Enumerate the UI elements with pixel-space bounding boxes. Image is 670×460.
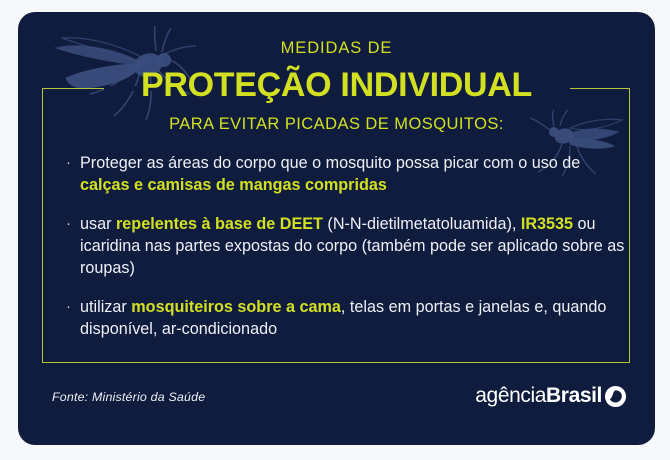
subtitle-text: PARA EVITAR PICADAS DE MOSQUITOS:: [18, 116, 655, 133]
list-item: · usar repelentes à base de DEET (N-N-di…: [66, 213, 626, 279]
source-value: Ministério da Saúde: [92, 390, 205, 404]
agencia-brasil-logo: agênciaBrasil: [475, 384, 627, 408]
infographic-stage: MEDIDAS DE PROTEÇÃO INDIVIDUAL PARA EVIT…: [0, 0, 670, 460]
logo-text-brasil: Brasil: [546, 384, 602, 408]
plain-phrase: utilizar: [80, 298, 131, 316]
plain-phrase: Proteger as áreas do corpo que o mosquit…: [80, 154, 580, 172]
bullet-dot-icon: ·: [66, 213, 80, 235]
source-label: Fonte:: [52, 390, 88, 404]
measures-list: · Proteger as áreas do corpo que o mosqu…: [66, 152, 626, 357]
list-item: · Proteger as áreas do corpo que o mosqu…: [66, 152, 626, 196]
infographic-card: MEDIDAS DE PROTEÇÃO INDIVIDUAL PARA EVIT…: [18, 12, 655, 445]
list-item-text: Proteger as áreas do corpo que o mosquit…: [80, 152, 626, 196]
logo-text-agencia: agência: [475, 384, 546, 408]
header-block: MEDIDAS DE PROTEÇÃO INDIVIDUAL PARA EVIT…: [18, 12, 655, 132]
highlighted-phrase: mosquiteiros sobre a cama: [131, 298, 341, 316]
agencia-brasil-mark-icon: [604, 385, 627, 408]
source-credit: Fonte: Ministério da Saúde: [52, 390, 205, 404]
list-item-text: utilizar mosquiteiros sobre a cama, tela…: [80, 296, 626, 340]
bullet-dot-icon: ·: [66, 152, 80, 174]
bullet-dot-icon: ·: [66, 296, 80, 318]
plain-phrase: (N-N-dietilmetatoluamida),: [323, 215, 521, 233]
footer-block: Fonte: Ministério da Saúde agênciaBrasil: [18, 380, 655, 428]
page-title: PROTEÇÃO INDIVIDUAL: [18, 68, 655, 102]
highlighted-phrase: calças e camisas de mangas compridas: [80, 176, 387, 194]
list-item-text: usar repelentes à base de DEET (N-N-diet…: [80, 213, 626, 279]
highlighted-phrase: repelentes à base de DEET: [116, 215, 323, 233]
list-item: · utilizar mosquiteiros sobre a cama, te…: [66, 296, 626, 340]
kicker-text: MEDIDAS DE: [18, 40, 655, 57]
plain-phrase: usar: [80, 215, 116, 233]
highlighted-phrase: IR3535: [521, 215, 573, 233]
